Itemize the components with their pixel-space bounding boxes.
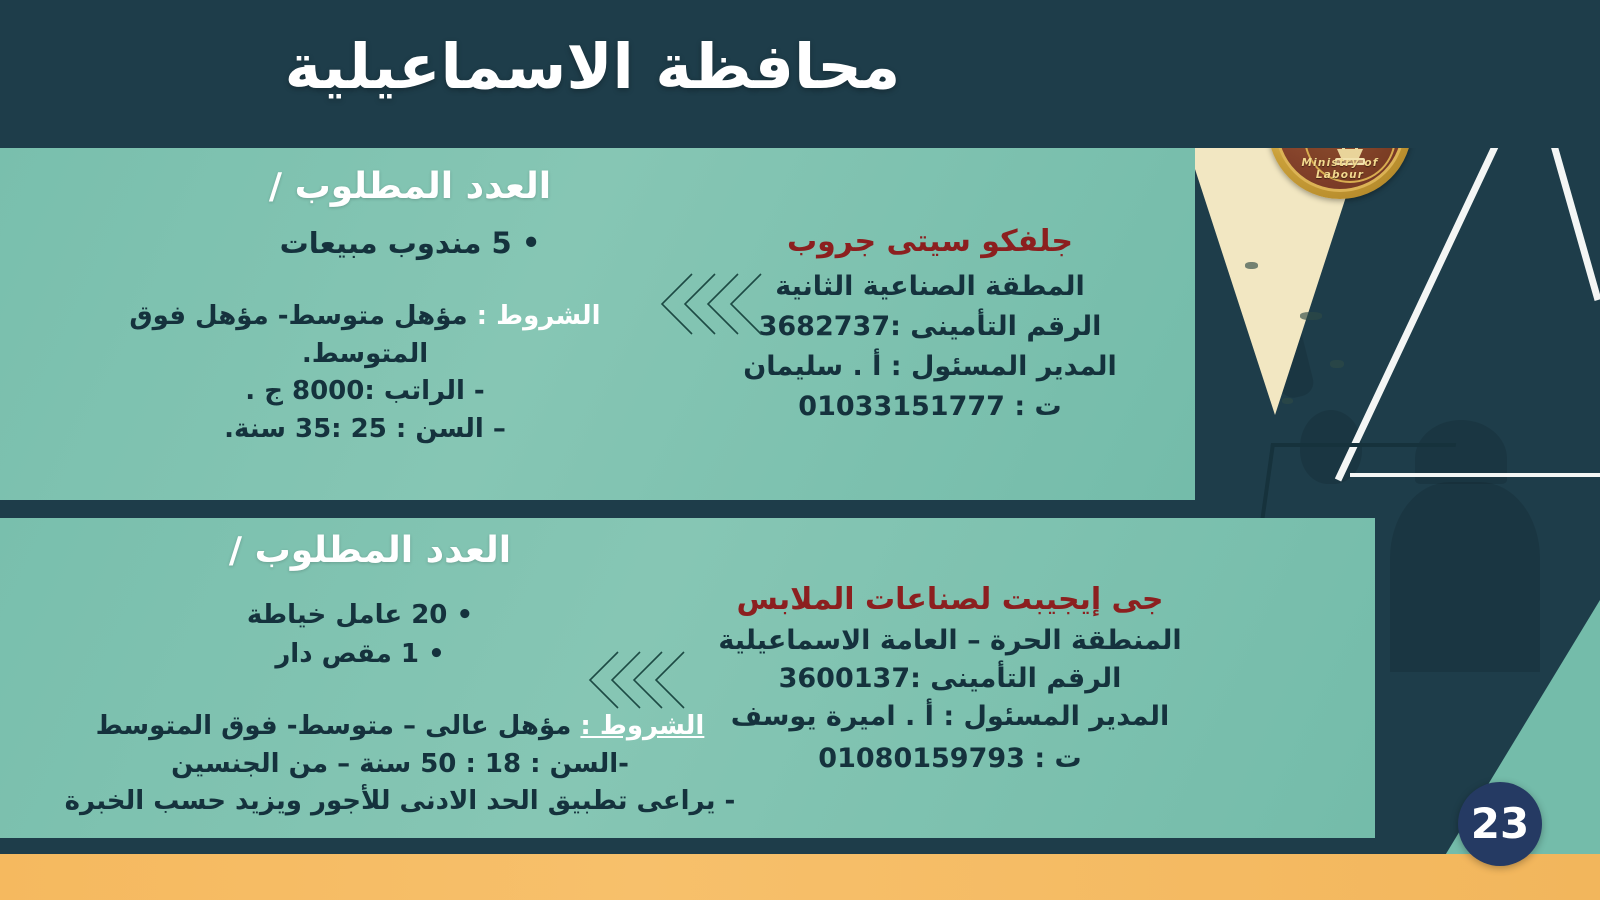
section-divider-bar <box>0 500 1240 518</box>
block-1-requirements-heading: العدد المطلوب / <box>160 164 660 211</box>
company-2-insurance-number: الرقم التأمينى :3600137 <box>690 660 1210 698</box>
block-2-conditions-label: الشروط : <box>580 711 704 741</box>
company-2-phone: ت : 01080159793 <box>690 740 1210 778</box>
page-number-badge: 23 <box>1458 782 1542 866</box>
block-1-conditions-line-1: مؤهل متوسط- مؤهل فوق المتوسط. <box>129 301 467 369</box>
list-item: 20 عامل خياطة <box>120 596 600 635</box>
block-2-conditions-line-3: - يراعى تطبيق الحد الادنى للأجور ويزيد ح… <box>60 783 740 821</box>
company-1-name: جلفكو سيتى جروب <box>700 222 1160 263</box>
block-2-conditions-line-1: مؤهل عالى – متوسط- فوق المتوسط <box>96 711 572 741</box>
company-2-name: جى إيجيبت لصناعات الملابس <box>700 580 1200 621</box>
chevron-arrows-decoration-1 <box>660 272 765 336</box>
slide-root: وزارة العمل <box>0 0 1600 900</box>
block-2-requirements-list: 20 عامل خياطة 1 مقص دار <box>120 596 600 674</box>
block-2-conditions-line-2: -السن : 18 : 50 سنة – من الجنسين <box>60 746 740 784</box>
block-2-requirements-heading: العدد المطلوب / <box>120 528 620 575</box>
bottom-divider-bar <box>0 838 1445 854</box>
block-1-requirements-list: 5 مندوب مبيعات <box>140 222 680 266</box>
company-2-address: المنطقة الحرة – العامة الاسماعيلية <box>690 622 1210 660</box>
block-1-conditions: الشروط : مؤهل متوسط- مؤهل فوق المتوسط. -… <box>80 298 650 449</box>
chevron-arrows-decoration-2 <box>588 650 688 710</box>
company-1-phone: ت : 01033151777 <box>690 388 1170 426</box>
block-1-conditions-line-3: – السن : 25 :35 سنة. <box>80 411 650 449</box>
list-item: 1 مقص دار <box>120 635 600 674</box>
block-2-conditions: الشروط : مؤهل عالى – متوسط- فوق المتوسط … <box>60 708 740 821</box>
company-1-manager: المدير المسئول : أ . سليمان <box>690 348 1170 386</box>
page-title: محافظة الاسماعيلية <box>0 28 1185 106</box>
bottom-orange-bar <box>0 854 1600 900</box>
company-2-manager: المدير المسئول : أ . اميرة يوسف <box>690 698 1210 736</box>
block-1-conditions-line-2: - الراتب :8000 ج . <box>80 373 650 411</box>
block-1-conditions-label: الشروط : <box>477 301 601 331</box>
list-item: 5 مندوب مبيعات <box>140 222 680 266</box>
